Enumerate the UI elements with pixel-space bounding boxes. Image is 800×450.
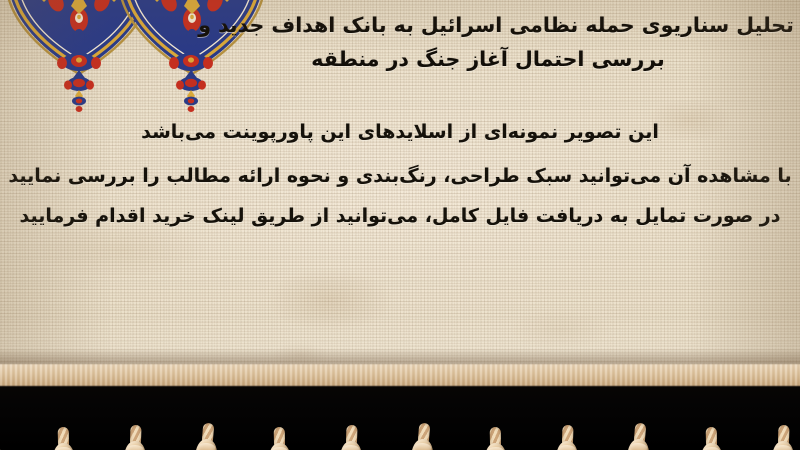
fringe-tassel [262, 442, 296, 443]
fringe-tassel [766, 440, 800, 441]
tassel-knot [194, 438, 217, 450]
slide-title-line-2: بررسی احتمال آغاز جنگ در منطقه [182, 42, 794, 76]
slide-body-line-1: این تصویر نمونه‌ای از اسلایدهای این پاور… [0, 112, 800, 152]
persian-pendant-drop-left [53, 52, 105, 114]
tassel-knot [53, 443, 75, 450]
tassel-knot [340, 440, 362, 450]
fringe-tassel [478, 442, 512, 443]
slide-body-line-2: با مشاهده آن می‌توانید سبک طراحی، رنگ‌بن… [0, 156, 800, 196]
fringe-tassel [550, 440, 584, 441]
fringe-tassel [46, 442, 80, 443]
slide-title-line-1: تحلیل سناریوی حمله نظامی اسرائیل به بانک… [182, 8, 800, 42]
fringe-tassel [694, 442, 728, 443]
slide-body: این تصویر نمونه‌ای از اسلایدهای این پاور… [0, 112, 800, 236]
carpet-knotted-fringe [0, 354, 800, 450]
tassel-knot [701, 443, 723, 450]
tassel-knot [124, 440, 146, 450]
fringe-tassel [0, 444, 8, 446]
tassel-knot [626, 438, 649, 450]
slide-body-line-3: در صورت تمایل به دریافت فایل کامل، می‌تو… [0, 196, 800, 236]
fringe-tassel [622, 437, 656, 440]
slide-title: تحلیل سناریوی حمله نظامی اسرائیل به بانک… [182, 8, 794, 76]
tassel-knot [410, 438, 433, 450]
tassel-knot [556, 440, 578, 450]
tassel-knot [485, 443, 507, 450]
tassel-knot [269, 443, 291, 450]
slide-canvas: تحلیل سناریوی حمله نظامی اسرائیل به بانک… [0, 0, 800, 450]
fringe-tassel [118, 440, 152, 441]
tassel-knot [0, 444, 4, 450]
fringe-tassel [334, 440, 368, 441]
tassel-knot [772, 440, 794, 450]
fringe-tassel [406, 437, 440, 440]
fringe-tassel [190, 437, 224, 440]
